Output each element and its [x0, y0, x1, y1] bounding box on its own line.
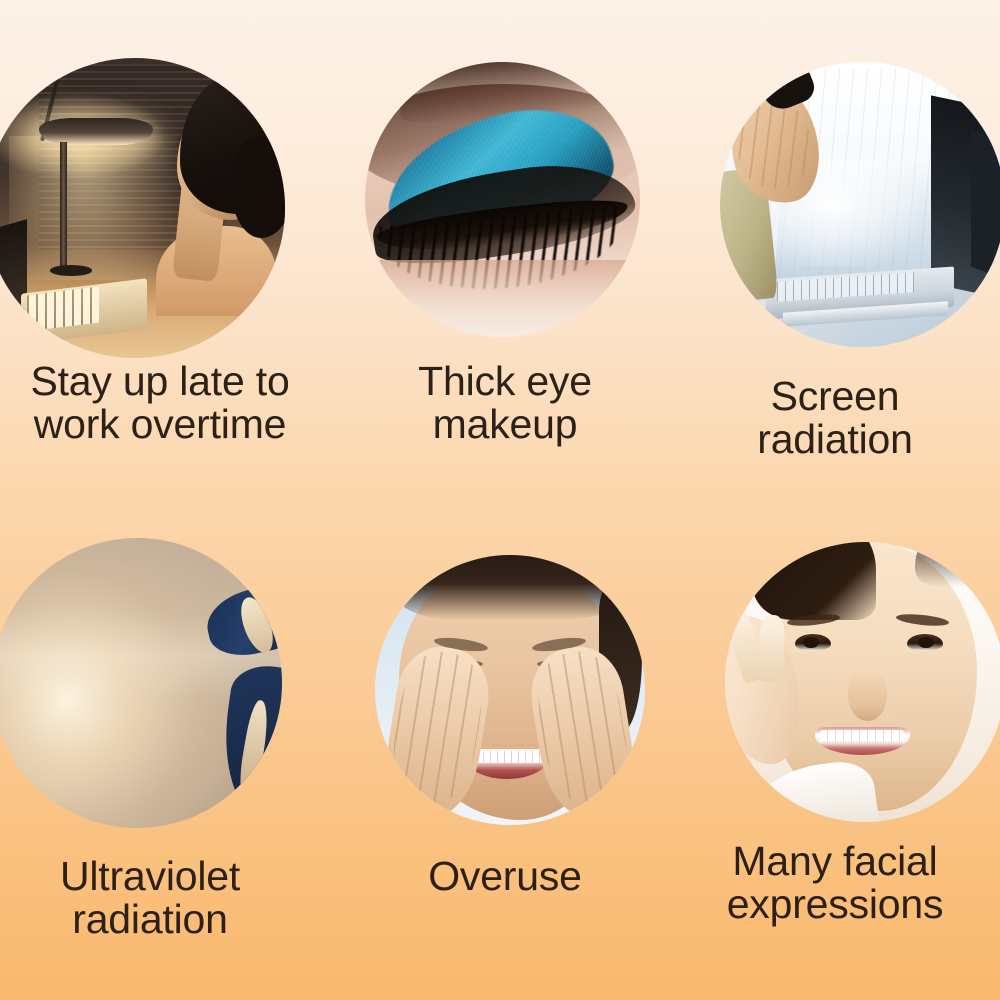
v-gesture-finger-2 [757, 614, 785, 682]
grid-cell-thick-eye-makeup: Thick eye makeup [340, 0, 670, 470]
caption-overuse: Overuse [340, 855, 670, 898]
caption-stay-up-late: Stay up late to work overtime [0, 360, 320, 447]
caption-many-facial-expressions: Many facial expressions [670, 840, 1000, 927]
teeth [470, 751, 546, 763]
scene-sun-haze [0, 538, 282, 828]
lamp-shade [39, 118, 153, 145]
woman-hair [753, 542, 876, 620]
photo-circle-many-facial-expressions [725, 542, 1000, 822]
grid-cell-ultraviolet-radiation: Ultraviolet radiation [0, 500, 340, 970]
scene-rubbing-eyes [375, 555, 645, 825]
grid-cell-screen-radiation: Screen radiation [670, 0, 1000, 470]
white-collar [743, 757, 881, 822]
grid-cell-many-facial-expressions: Many facial expressions [670, 500, 1000, 970]
photo-circle-overuse [375, 555, 645, 825]
lamp-pole [60, 142, 67, 274]
photo-circle-stay-up-late [0, 58, 285, 358]
woman-hair-right [915, 542, 988, 587]
caption-ultraviolet-radiation: Ultraviolet radiation [0, 855, 300, 942]
photo-circle-ultraviolet-radiation [0, 538, 282, 828]
woman-hair-back [231, 136, 285, 238]
caption-screen-radiation: Screen radiation [670, 375, 1000, 462]
woman-hair [394, 555, 626, 620]
scene-eye-makeup [365, 62, 640, 337]
laptop-bezel-edge [971, 130, 1000, 279]
infographic-poster: Stay up late to work overtime Thick eye … [0, 0, 1000, 1000]
scene-laptop-glare [720, 62, 1000, 347]
grid-cell-stay-up-late: Stay up late to work overtime [0, 0, 340, 470]
scene-smiling-face [725, 542, 1000, 822]
photo-circle-thick-eye-makeup [365, 62, 640, 337]
lamp-base [50, 265, 92, 276]
photo-circle-screen-radiation [720, 62, 1000, 347]
teeth [820, 730, 904, 741]
pupil-right [918, 637, 933, 648]
scene-desk-lamp-laptop [0, 58, 285, 358]
grid-cell-overuse: Overuse [340, 500, 670, 970]
caption-thick-eye-makeup: Thick eye makeup [340, 360, 670, 447]
under-eye-skin [365, 260, 640, 337]
